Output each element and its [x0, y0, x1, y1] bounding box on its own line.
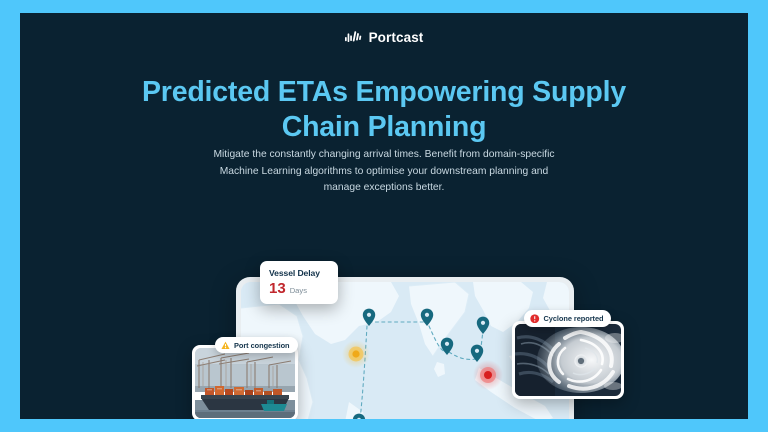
warning-triangle-icon: [221, 341, 230, 350]
subheadline: Mitigate the constantly changing arrival…: [204, 147, 564, 197]
brand-logo: Portcast: [20, 30, 748, 45]
vessel-delay-value: 13: [269, 281, 286, 296]
slide-canvas: Portcast Predicted ETAs Empowering Suppl…: [20, 13, 748, 419]
port-congestion-pill[interactable]: Port congestion: [215, 337, 298, 353]
headline-line-1: Predicted ETAs Empowering Supply: [142, 76, 626, 108]
port-congestion-pulse: [342, 340, 370, 368]
port-congestion-label: Port congestion: [234, 341, 290, 350]
cyclone-pulse: [473, 360, 503, 390]
waveform-logo-icon: [345, 30, 362, 45]
headline-line-2: Chain Planning: [20, 110, 748, 145]
container-port-photo: [195, 348, 295, 418]
vessel-delay-card[interactable]: Vessel Delay 13 Days: [260, 261, 338, 304]
cyclone-label: Cyclone reported: [544, 314, 604, 323]
port-congestion-card[interactable]: Port congestion: [192, 345, 298, 419]
cyclone-card[interactable]: Cyclone reported: [512, 321, 624, 399]
vessel-delay-unit: Days: [290, 286, 307, 295]
page-title: Predicted ETAs Empowering Supply Chain P…: [20, 75, 748, 145]
brand-name: Portcast: [369, 30, 424, 45]
vessel-delay-value-row: 13 Days: [269, 281, 329, 296]
slide-frame: Portcast Predicted ETAs Empowering Suppl…: [0, 0, 768, 432]
alert-circle-icon: [530, 314, 540, 324]
vessel-delay-title: Vessel Delay: [269, 268, 329, 278]
cyclone-satellite-photo: [515, 324, 621, 396]
cyclone-pill[interactable]: Cyclone reported: [524, 310, 611, 327]
